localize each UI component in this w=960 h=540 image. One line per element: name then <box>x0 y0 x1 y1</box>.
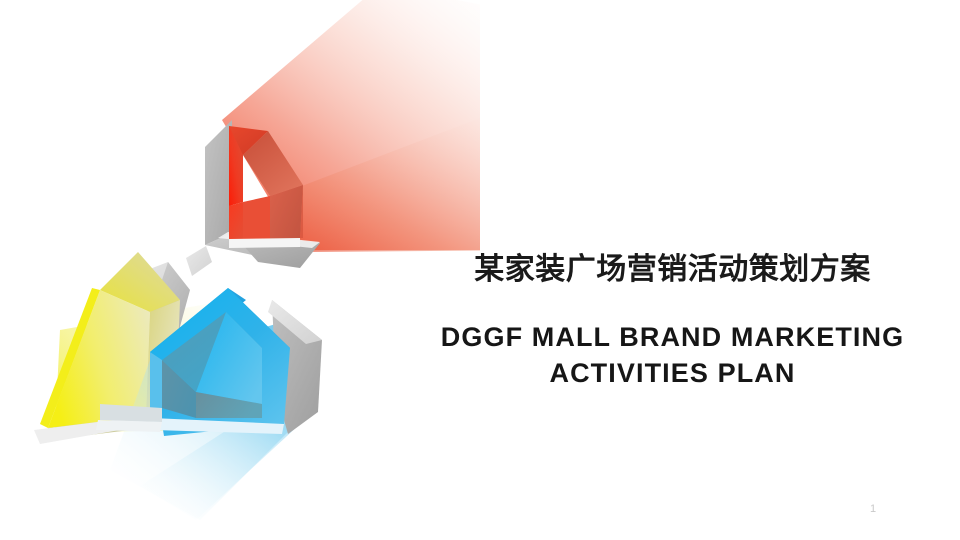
yellow-house-front-face <box>48 290 150 428</box>
blue-house-group <box>96 288 322 520</box>
red-house-inner-right <box>270 185 303 240</box>
page-title-chinese: 某家装广场营销活动策划方案 <box>400 252 945 289</box>
connector-shell-sliver <box>186 246 212 276</box>
blue-house-left-ledge-low <box>96 420 162 432</box>
red-light-beam <box>222 0 480 250</box>
blue-house-shell-right <box>272 300 322 434</box>
red-house-shell-left <box>205 120 232 245</box>
red-house-shell-edge-highlight <box>218 232 320 248</box>
title-slide: 某家装广场营销活动策划方案 DGGF MALL BRAND MARKETING … <box>0 0 960 540</box>
blue-light-beam-tail <box>140 392 300 520</box>
blue-house-inner-floor <box>196 392 262 418</box>
yellow-light-beam <box>55 300 290 432</box>
blue-house-inner-left <box>162 360 196 418</box>
blue-house-base-strip <box>152 418 284 434</box>
yellow-house-group <box>34 252 290 444</box>
page-title-english: DGGF MALL BRAND MARKETING ACTIVITIES PLA… <box>400 319 945 391</box>
blue-house-left-ledge <box>100 404 162 422</box>
red-house-group <box>205 0 480 268</box>
yellow-house-roof <box>100 252 180 312</box>
red-house-shell-right-wedge <box>232 233 320 268</box>
red-house-outer-right-panel <box>268 131 303 238</box>
red-house-inner-top <box>243 131 303 196</box>
page-title-english-line1: DGGF MALL BRAND MARKETING <box>400 319 945 355</box>
red-house-roof-left <box>229 126 268 155</box>
red-house-base-strip <box>229 238 300 248</box>
blue-light-beam <box>110 320 300 520</box>
blue-house-front-lower-left <box>150 352 162 418</box>
blue-house-inner-top <box>162 312 262 392</box>
title-block: 某家装广场营销活动策划方案 DGGF MALL BRAND MARKETING … <box>400 252 945 391</box>
red-house-shell-bottom <box>205 233 320 265</box>
yellow-house-shell-upper <box>116 262 190 315</box>
blue-house-roof-right <box>228 288 290 356</box>
yellow-house-shell-right <box>150 262 190 334</box>
page-title-english-line2: ACTIVITIES PLAN <box>400 355 945 391</box>
blue-house-outer-face <box>150 288 290 436</box>
red-house-inner-floor <box>243 196 270 240</box>
yellow-house-inner-right <box>146 300 180 416</box>
red-house-front-lower <box>229 202 270 240</box>
page-number: 1 <box>860 503 886 515</box>
blue-house-roof-left <box>150 288 246 362</box>
yellow-house-base-shadow <box>34 412 176 444</box>
red-light-beam-lower <box>226 95 480 252</box>
red-house-front-face <box>229 126 243 206</box>
blue-house-inner-right <box>196 312 262 404</box>
yellow-house-floor-ledge <box>48 400 176 440</box>
yellow-house-left-edge <box>40 288 100 428</box>
blue-house-shell-right-light <box>268 300 322 344</box>
